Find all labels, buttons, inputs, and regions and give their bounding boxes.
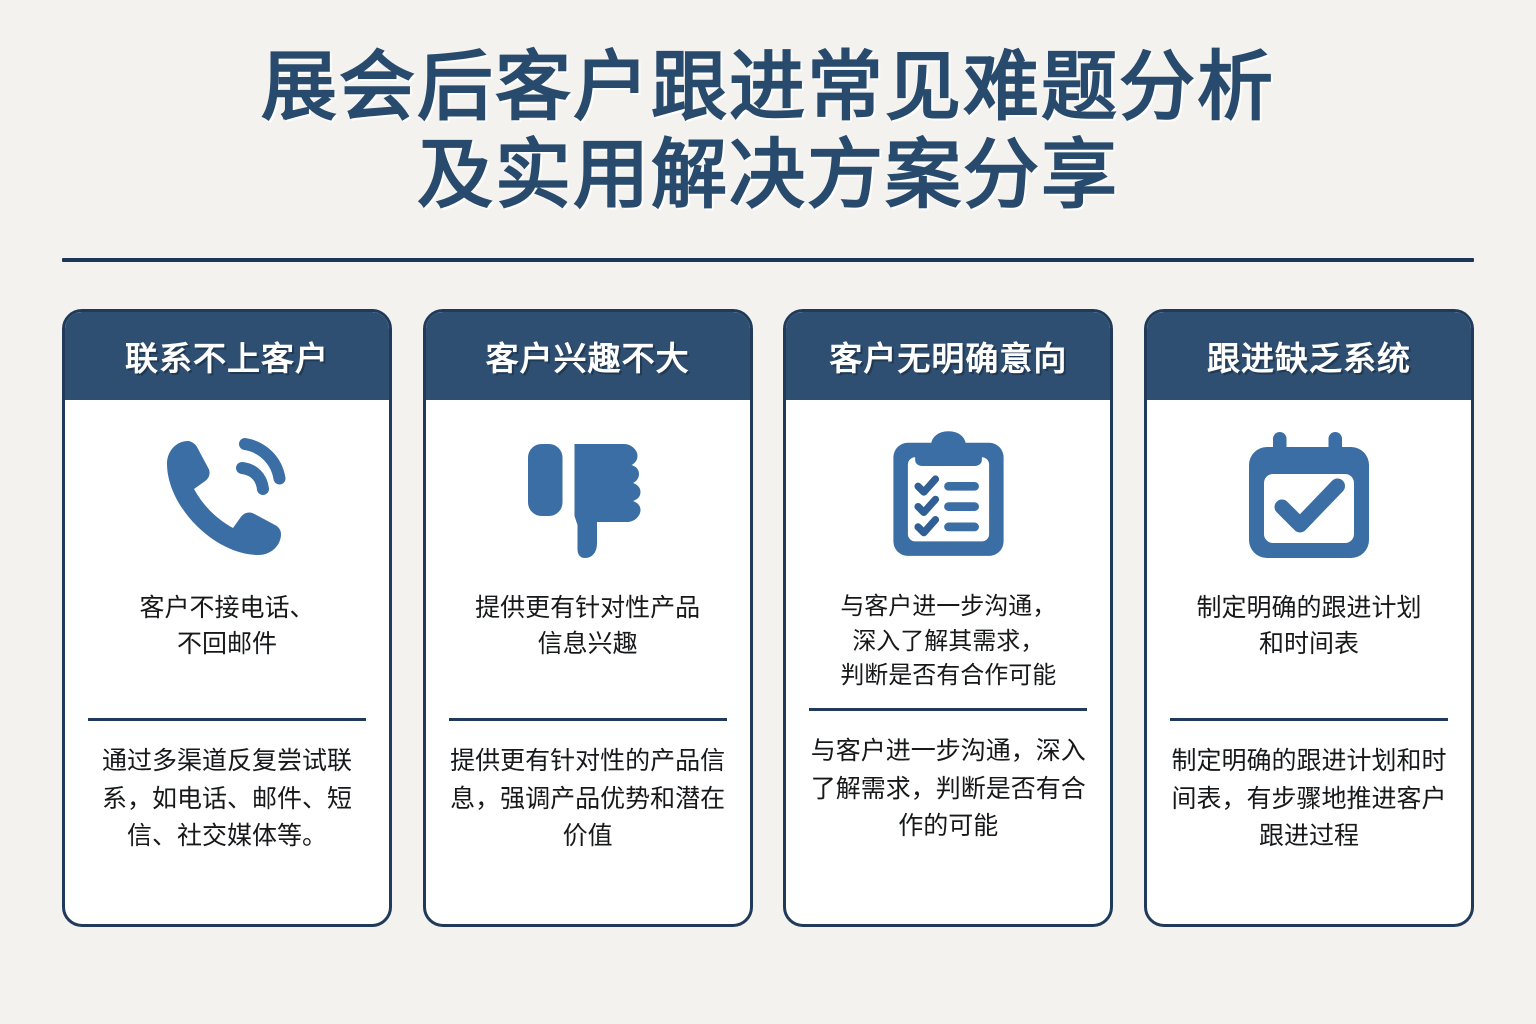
card-solution-1: 通过多渠道反复尝试联系，如电话、邮件、短信、社交媒体等。 [87, 743, 367, 856]
card-unsystematic-followup[interactable]: 跟进缺乏系统 制定明确的跟进计划 和时间表 制定明确的跟进计划和时间表，有步骤地… [1144, 309, 1474, 927]
cards-row: 联系不上客户 客户不接电话、 不回邮件 通过多渠道反复尝试联系，如电话、邮件、短… [62, 309, 1474, 927]
card-problem-1: 客户不接电话、 不回邮件 [87, 590, 367, 702]
card-divider-2 [449, 718, 727, 721]
card-low-interest[interactable]: 客户兴趣不大 提供更有针对性产品 信息兴趣 提供更有针对性的产品信息，强调产品优… [423, 309, 753, 927]
page-title-line-2: 及实用解决方案分享 [0, 132, 1536, 220]
card-header-label-4: 跟进缺乏系统 [1207, 332, 1411, 380]
thumbs-down-icon [513, 400, 663, 590]
title-block: 展会后客户跟进常见难题分析 及实用解决方案分享 [0, 0, 1536, 220]
card-solution-2: 提供更有针对性的产品信息，强调产品优势和潜在价值 [448, 743, 728, 856]
infographic-page: 展会后客户跟进常见难题分析 及实用解决方案分享 联系不上客户 客户不接电话、 不… [0, 0, 1536, 1024]
card-divider-1 [88, 718, 366, 721]
card-body-3: 与客户进一步沟通， 深入了解其需求， 判断是否有合作可能 与客户进一步沟通，深入… [786, 400, 1110, 924]
card-body-4: 制定明确的跟进计划 和时间表 制定明确的跟进计划和时间表，有步骤地推进客户跟进过… [1147, 400, 1471, 924]
card-header-3: 客户无明确意向 [786, 312, 1110, 400]
card-divider-3 [809, 708, 1087, 711]
card-body-1: 客户不接电话、 不回邮件 通过多渠道反复尝试联系，如电话、邮件、短信、社交媒体等… [65, 400, 389, 924]
card-header-2: 客户兴趣不大 [426, 312, 750, 400]
card-contact-failure[interactable]: 联系不上客户 客户不接电话、 不回邮件 通过多渠道反复尝试联系，如电话、邮件、短… [62, 309, 392, 927]
clipboard-checklist-icon [876, 400, 1021, 590]
card-header-4: 跟进缺乏系统 [1147, 312, 1471, 400]
title-divider [62, 258, 1474, 262]
card-header-label-2: 客户兴趣不大 [486, 332, 690, 380]
card-header-1: 联系不上客户 [65, 312, 389, 400]
card-divider-4 [1170, 718, 1448, 721]
card-header-label-3: 客户无明确意向 [829, 332, 1067, 380]
calendar-check-icon [1234, 400, 1384, 590]
card-problem-2: 提供更有针对性产品 信息兴趣 [448, 590, 728, 702]
card-body-2: 提供更有针对性产品 信息兴趣 提供更有针对性的产品信息，强调产品优势和潜在价值 [426, 400, 750, 924]
card-problem-3: 与客户进一步沟通， 深入了解其需求， 判断是否有合作可能 [808, 590, 1088, 702]
card-problem-4: 制定明确的跟进计划 和时间表 [1169, 590, 1449, 702]
card-no-clear-intent[interactable]: 客户无明确意向 与客户进一步沟通， 深入了 [783, 309, 1113, 927]
phone-ringing-icon [152, 400, 302, 590]
page-title-line-1: 展会后客户跟进常见难题分析 [0, 44, 1536, 132]
card-solution-3: 与客户进一步沟通，深入了解需求，判断是否有合作的可能 [808, 733, 1088, 846]
card-header-label-1: 联系不上客户 [125, 332, 329, 380]
card-solution-4: 制定明确的跟进计划和时间表，有步骤地推进客户跟进过程 [1169, 743, 1449, 856]
